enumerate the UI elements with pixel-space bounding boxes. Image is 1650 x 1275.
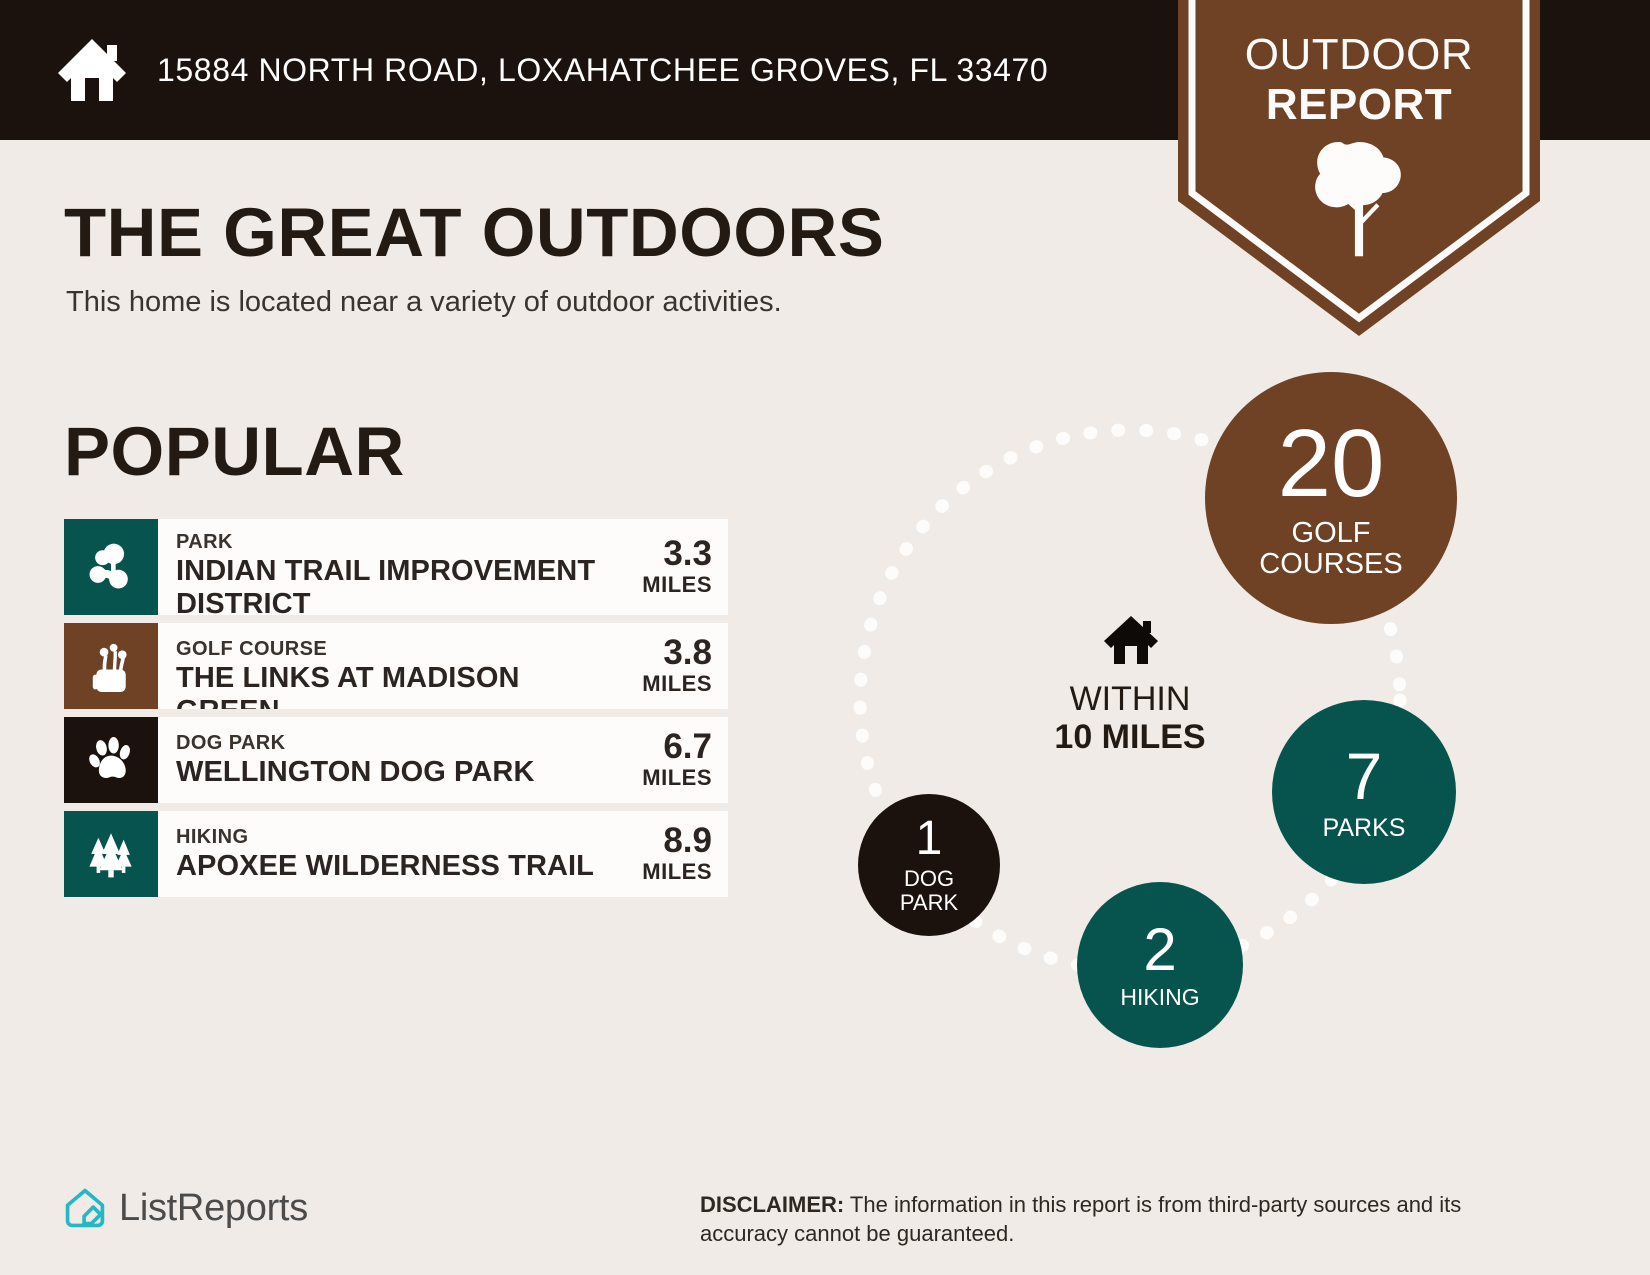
popular-heading: POPULAR: [64, 412, 405, 491]
stat-bubble-dog-park[interactable]: 1 DOG PARK: [858, 794, 1000, 936]
golf-bag-icon: [64, 623, 158, 709]
pine-trees-icon: [64, 811, 158, 897]
list-item-text: GOLF COURSE THE LINKS AT MADISON GREEN: [158, 623, 636, 709]
stat-value: 7: [1346, 743, 1383, 809]
page-title: THE GREAT OUTDOORS: [64, 193, 884, 272]
page-subtitle: This home is located near a variety of o…: [66, 286, 782, 319]
stat-label: DOG: [904, 867, 954, 891]
listreports-house-icon: [63, 1186, 107, 1230]
list-item-text: HIKING APOXEE WILDERNESS TRAIL: [158, 811, 636, 897]
stat-bubble-golf-courses[interactable]: 20 GOLF COURSES: [1205, 372, 1457, 624]
park-trees-icon: [64, 519, 158, 615]
ring-center-line1: WITHIN: [960, 680, 1300, 718]
list-item-distance-unit: MILES: [642, 671, 712, 697]
home-icon: [1102, 614, 1160, 666]
stat-bubble-hiking[interactable]: 2 HIKING: [1077, 882, 1243, 1048]
list-item-name: INDIAN TRAIL IMPROVEMENT DISTRICT: [176, 555, 630, 615]
badge-title-line2: REPORT: [1178, 80, 1540, 130]
list-item-text: PARK INDIAN TRAIL IMPROVEMENT DISTRICT: [158, 519, 636, 615]
listreports-wordmark: ListReports: [119, 1187, 308, 1230]
list-item-distance: 8.9 MILES: [636, 811, 728, 897]
outdoor-report-badge: OUTDOOR REPORT: [1178, 0, 1540, 336]
stat-label: PARKS: [1323, 815, 1406, 842]
list-item-category: DOG PARK: [176, 731, 630, 756]
popular-list: PARK INDIAN TRAIL IMPROVEMENT DISTRICT 3…: [64, 519, 728, 905]
outdoor-report-page: 15884 NORTH ROAD, LOXAHATCHEE GROVES, FL…: [0, 0, 1650, 1275]
list-item-distance: 3.3 MILES: [636, 519, 728, 615]
list-item-category: GOLF COURSE: [176, 637, 630, 662]
home-icon: [55, 33, 129, 107]
property-address: 15884 NORTH ROAD, LOXAHATCHEE GROVES, FL…: [157, 52, 1048, 89]
ring-center-caption: WITHIN 10 MILES: [960, 680, 1300, 756]
list-item[interactable]: GOLF COURSE THE LINKS AT MADISON GREEN 3…: [64, 623, 728, 709]
list-item-category: PARK: [176, 530, 630, 555]
disclaimer-label: DISCLAIMER:: [700, 1192, 844, 1217]
stat-value: 1: [916, 815, 943, 863]
list-item-distance-value: 6.7: [642, 729, 712, 765]
list-item-distance: 3.8 MILES: [636, 623, 728, 709]
ring-center-line2: 10 MILES: [960, 718, 1300, 756]
list-item-distance-value: 8.9: [642, 823, 712, 859]
list-item-distance-value: 3.3: [642, 536, 712, 572]
list-item-distance-value: 3.8: [642, 635, 712, 671]
badge-title: OUTDOOR REPORT: [1178, 30, 1540, 130]
list-item-name: APOXEE WILDERNESS TRAIL: [176, 850, 630, 883]
stat-value: 20: [1278, 416, 1385, 512]
list-item-name: WELLINGTON DOG PARK: [176, 756, 630, 789]
list-item-distance: 6.7 MILES: [636, 717, 728, 803]
badge-title-line1: OUTDOOR: [1245, 30, 1473, 79]
listreports-logo[interactable]: ListReports: [63, 1186, 308, 1230]
list-item-distance-unit: MILES: [642, 765, 712, 791]
list-item-name: THE LINKS AT MADISON GREEN: [176, 662, 630, 709]
list-item-distance-unit: MILES: [642, 859, 712, 885]
list-item[interactable]: DOG PARK WELLINGTON DOG PARK 6.7 MILES: [64, 717, 728, 803]
list-item-text: DOG PARK WELLINGTON DOG PARK: [158, 717, 636, 803]
stat-label-2: COURSES: [1259, 549, 1402, 580]
stat-label: GOLF: [1292, 518, 1371, 549]
list-item-distance-unit: MILES: [642, 572, 712, 598]
list-item[interactable]: HIKING APOXEE WILDERNESS TRAIL 8.9 MILES: [64, 811, 728, 897]
stat-label: HIKING: [1120, 985, 1199, 1010]
list-item[interactable]: PARK INDIAN TRAIL IMPROVEMENT DISTRICT 3…: [64, 519, 728, 615]
disclaimer: DISCLAIMER: The information in this repo…: [700, 1190, 1520, 1248]
paw-print-icon: [64, 717, 158, 803]
stat-value: 2: [1143, 920, 1176, 980]
stat-label-2: PARK: [900, 891, 958, 915]
list-item-category: HIKING: [176, 825, 630, 850]
